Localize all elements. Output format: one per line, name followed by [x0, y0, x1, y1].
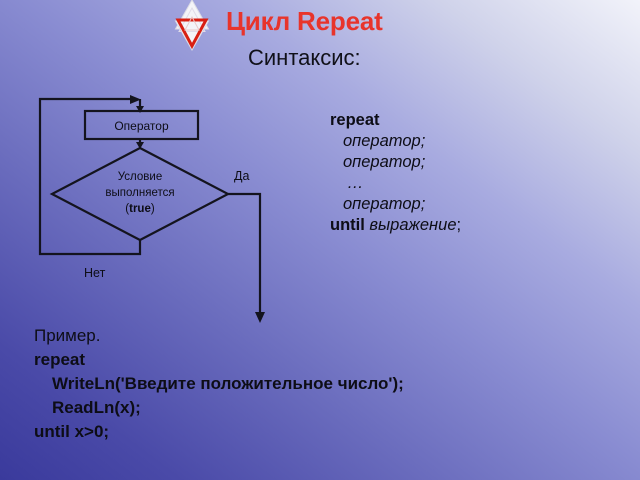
six-pointed-star-icon — [158, 0, 226, 54]
yes-branch-label: Да — [234, 169, 249, 183]
example-heading: Пример. — [34, 324, 404, 348]
slide-canvas: Цикл Repeat Синтаксис: Оператор Условие … — [0, 0, 640, 480]
decision-label-line2: выполняется — [105, 187, 174, 199]
syntax-line-until: until выражение; — [330, 215, 461, 236]
example-line-readln: ReadLn(x); — [34, 396, 404, 420]
syntax-line-repeat: repeat — [330, 110, 461, 131]
syntax-line-statement-2: оператор; — [330, 152, 461, 173]
keyword-repeat: repeat — [330, 111, 380, 129]
repeat-loop-flowchart: Оператор Условие выполняется (true) Да Н… — [0, 88, 330, 338]
example-line-until: until x>0; — [34, 420, 404, 444]
page-subtitle: Синтаксис: — [248, 45, 361, 71]
no-branch-label: Нет — [84, 266, 106, 280]
syntax-line-statement-n: оператор; — [330, 194, 461, 215]
example-block: Пример. repeat WriteLn('Введите положите… — [34, 324, 404, 444]
syntax-line-statement-1: оператор; — [330, 131, 461, 152]
decision-label-line1: Условие — [118, 171, 162, 183]
yes-branch-connector — [228, 194, 260, 316]
yes-branch-arrowhead — [255, 312, 265, 323]
decision-label-line3: (true) — [125, 203, 155, 215]
process-box-label: Оператор — [114, 119, 169, 133]
syntax-line-ellipsis: … — [330, 173, 461, 194]
syntax-block: repeat оператор; оператор; … оператор; u… — [330, 110, 461, 236]
example-line-repeat: repeat — [34, 348, 404, 372]
example-line-writeln: WriteLn('Введите положительное число'); — [34, 372, 404, 396]
page-title: Цикл Repeat — [226, 6, 383, 37]
keyword-until: until — [330, 216, 365, 234]
